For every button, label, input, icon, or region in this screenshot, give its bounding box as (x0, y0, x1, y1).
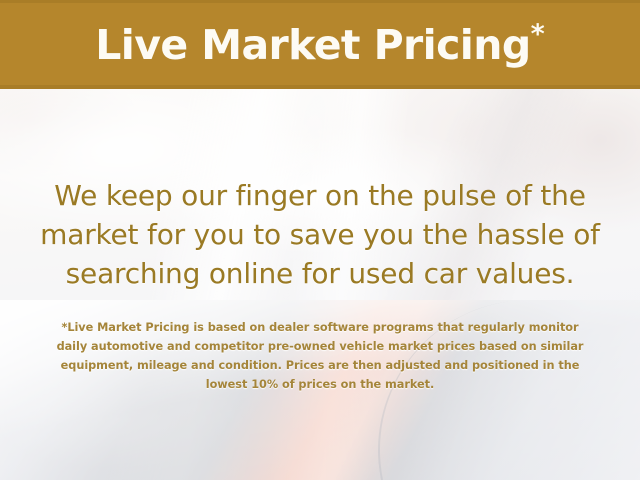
header-banner: Live Market Pricing* (0, 0, 640, 89)
title-asterisk: * (531, 19, 545, 50)
page-title: Live Market Pricing* (95, 21, 544, 66)
headline-line-1: We keep our finger on the pulse of the (0, 176, 640, 215)
headline-line-2: market for you to save you the hassle of (0, 215, 640, 254)
disclaimer-line-1: *Live Market Pricing is based on dealer … (20, 318, 620, 337)
promo-slide: Live Market Pricing* We keep our finger … (0, 0, 640, 480)
page-title-text: Live Market Pricing (95, 21, 530, 69)
disclaimer-block: *Live Market Pricing is based on dealer … (20, 318, 620, 394)
headline-line-3: searching online for used car values. (0, 254, 640, 293)
disclaimer-line-2: daily automotive and competitor pre-owne… (20, 337, 620, 356)
disclaimer-line-4: lowest 10% of prices on the market. (20, 375, 620, 394)
headline-block: We keep our finger on the pulse of the m… (0, 176, 640, 293)
disclaimer-line-3: equipment, mileage and condition. Prices… (20, 356, 620, 375)
